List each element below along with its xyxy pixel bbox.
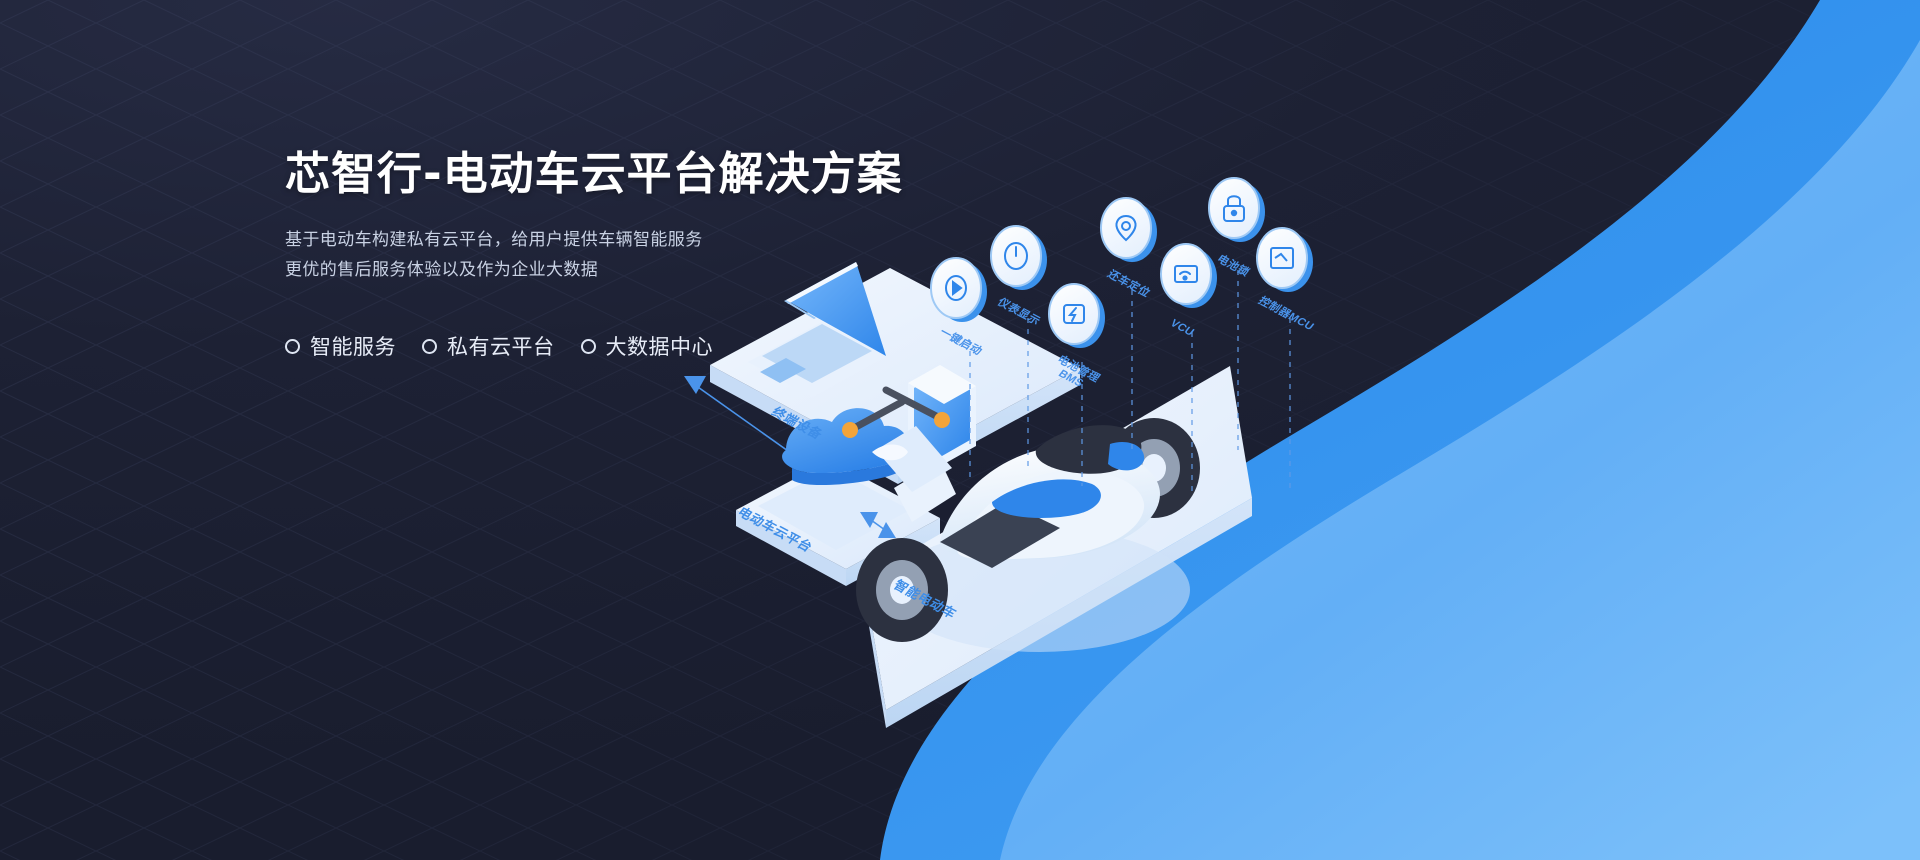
circle-bullet-icon bbox=[422, 339, 437, 354]
hero-bullet-label: 私有云平台 bbox=[447, 331, 555, 361]
circle-bullet-icon bbox=[581, 339, 596, 354]
feature-disc-location[interactable] bbox=[1101, 198, 1157, 262]
feature-disc-bms[interactable] bbox=[1049, 284, 1105, 348]
feature-disc-battery-lock[interactable] bbox=[1209, 178, 1265, 242]
feature-disc-vcu[interactable] bbox=[1161, 244, 1217, 308]
hero-banner: 芯智行-电动车云平台解决方案 基于电动车构建私有云平台，给用户提供车辆智能服务 … bbox=[0, 0, 1920, 860]
hero-bullet-item: 智能服务 bbox=[285, 331, 396, 361]
isometric-illustration: 终端设备 电动车云平台 智能电动车 一键启动 仪表显示 电池管理 BMS 还车定… bbox=[640, 150, 1920, 860]
hero-bullet-item: 私有云平台 bbox=[422, 331, 555, 361]
feature-disc-mcu[interactable] bbox=[1257, 228, 1313, 292]
feature-disc-dashboard[interactable] bbox=[991, 226, 1047, 290]
hero-bullet-label: 智能服务 bbox=[310, 331, 396, 361]
circle-bullet-icon bbox=[285, 339, 300, 354]
illustration-canvas bbox=[640, 150, 1920, 860]
